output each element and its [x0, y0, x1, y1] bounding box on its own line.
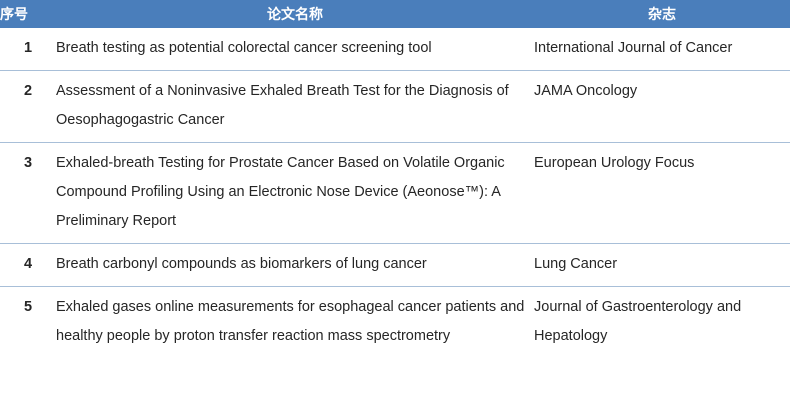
row-title-cell: Exhaled gases online measurements for es…: [56, 287, 534, 359]
row-title-cell: Exhaled-breath Testing for Prostate Canc…: [56, 143, 534, 244]
column-header-journal: 杂志: [534, 0, 790, 28]
table-row: 2 Assessment of a Noninvasive Exhaled Br…: [0, 71, 790, 143]
row-journal-cell: JAMA Oncology: [534, 71, 790, 143]
row-journal-cell: Lung Cancer: [534, 244, 790, 287]
row-title-cell: Breath carbonyl compounds as biomarkers …: [56, 244, 534, 287]
row-journal-cell: European Urology Focus: [534, 143, 790, 244]
row-title-cell: Breath testing as potential colorectal c…: [56, 28, 534, 71]
row-journal-cell: International Journal of Cancer: [534, 28, 790, 71]
table-row: 5 Exhaled gases online measurements for …: [0, 287, 790, 359]
row-title-cell: Assessment of a Noninvasive Exhaled Brea…: [56, 71, 534, 143]
table-row: 1 Breath testing as potential colorectal…: [0, 28, 790, 71]
row-index-cell: 2: [0, 71, 56, 143]
row-journal-cell: Journal of Gastroenterology and Hepatolo…: [534, 287, 790, 359]
table-header: 序号 论文名称 杂志: [0, 0, 790, 28]
table-row: 3 Exhaled-breath Testing for Prostate Ca…: [0, 143, 790, 244]
column-header-index: 序号: [0, 0, 56, 28]
row-index-cell: 1: [0, 28, 56, 71]
column-header-title: 论文名称: [56, 0, 534, 28]
row-index-cell: 4: [0, 244, 56, 287]
row-index-cell: 5: [0, 287, 56, 359]
table-header-row: 序号 论文名称 杂志: [0, 0, 790, 28]
table-row: 4 Breath carbonyl compounds as biomarker…: [0, 244, 790, 287]
papers-table: 序号 论文名称 杂志 1 Breath testing as potential…: [0, 0, 790, 358]
row-index-cell: 3: [0, 143, 56, 244]
table-body: 1 Breath testing as potential colorectal…: [0, 28, 790, 358]
